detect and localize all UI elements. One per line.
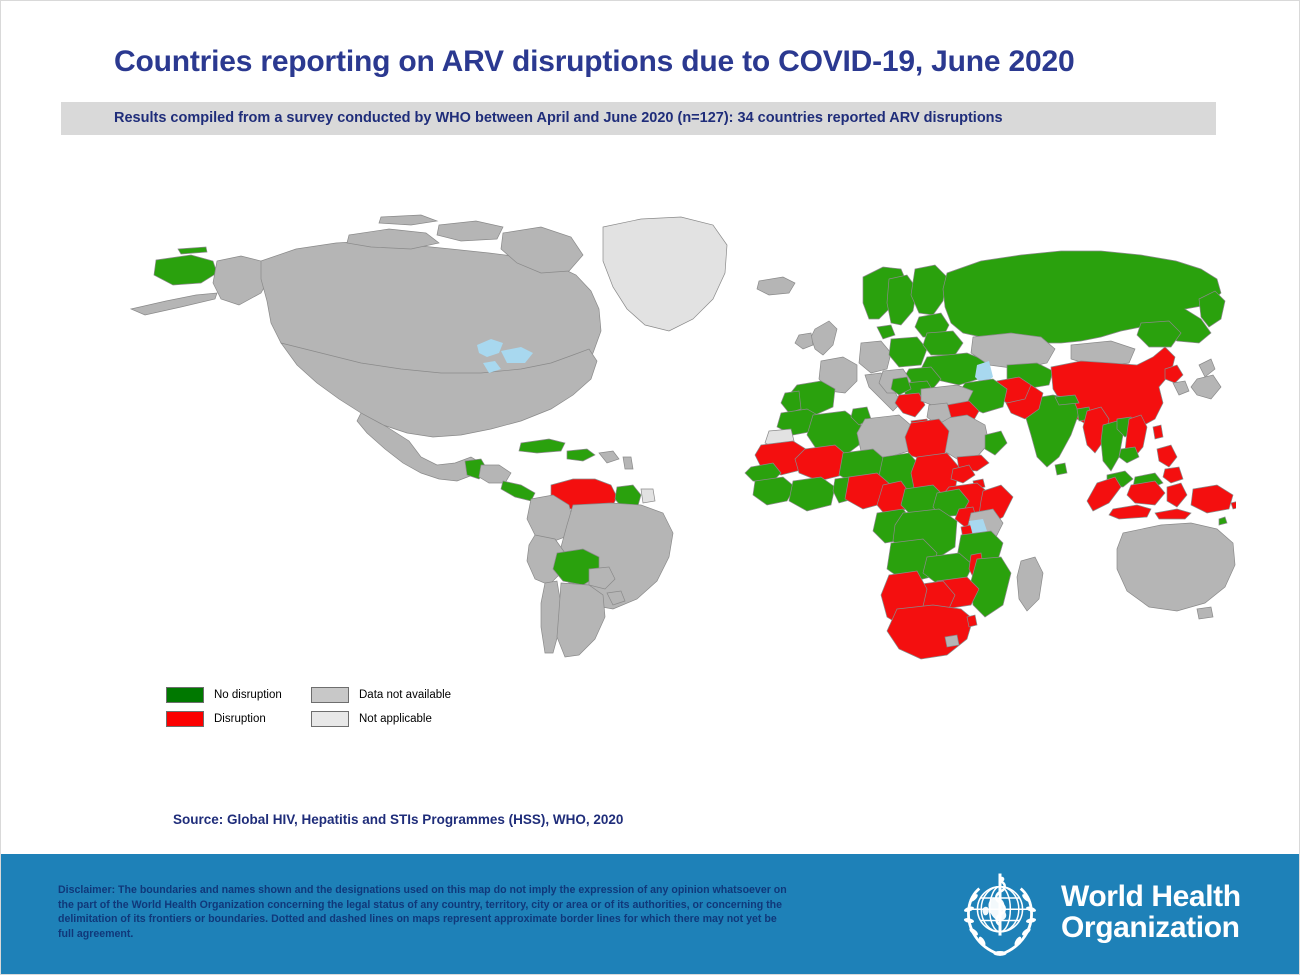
country-eswatini [967,615,977,627]
country-united-kingdom [811,321,837,355]
subtitle-text: Results compiled from a survey conducted… [114,110,1003,126]
legend-swatch-data-not-available [311,687,349,703]
country-nepal [1055,395,1079,405]
country-central-america [479,465,511,483]
country-sweden [887,275,917,325]
country-greenland [603,217,727,331]
country-cote-divoire [789,477,835,511]
who-emblem-icon [951,866,1049,960]
who-wordmark-line2: Organization [1061,913,1241,944]
country-ireland [795,333,813,349]
source-text: Source: Global HIV, Hepatitis and STIs P… [173,812,623,827]
map-legend: No disruption Disruption Data not availa… [166,687,586,735]
country-finland [911,265,947,315]
country-poland [889,337,927,367]
legend-label-no-disruption: No disruption [214,687,282,703]
legend-item-data-not-available: Data not available [311,687,451,703]
country-madagascar [1017,557,1043,611]
country-caribbean-islands [599,451,619,463]
who-wordmark-line1: World Health [1061,882,1241,913]
country-cuba [519,439,565,453]
country-costa-rica-panama [501,481,535,501]
world-choropleth-map: .c-na { fill:#b5b5b5; stroke:#8a8a8a; st… [121,213,1236,678]
world-map-container: .c-na { fill:#b5b5b5; stroke:#8a8a8a; st… [121,213,1236,678]
country-canada-arctic-3 [379,215,437,225]
legend-label-not-applicable: Not applicable [359,711,432,727]
country-oman [985,431,1007,455]
country-canada-arctic-2 [437,221,503,241]
country-argentina [557,583,605,657]
legend-item-disruption: Disruption [166,711,266,727]
country-indonesia-sulawesi [1167,483,1187,507]
country-japan-honshu [1191,375,1221,399]
legend-label-disruption: Disruption [214,711,266,727]
country-papua-new-guinea [1191,485,1233,513]
legend-label-data-not-available: Data not available [359,687,451,703]
country-indonesia-islands [1155,509,1191,519]
country-aleutians [131,293,217,315]
country-lesotho [945,635,959,647]
country-tasmania [1197,607,1213,619]
country-russia [943,251,1221,343]
legend-swatch-disruption [166,711,204,727]
country-sri-lanka [1055,463,1067,475]
country-portugal [781,391,801,413]
country-denmark [877,325,895,339]
country-greece [895,393,925,417]
country-philippines [1157,445,1177,467]
country-alaska-green-2 [178,247,207,254]
country-cambodia [1119,447,1139,463]
country-south-africa [887,605,973,659]
country-hispaniola [567,449,595,461]
country-french-guiana [641,489,655,503]
country-solomon-islands [1231,501,1236,509]
who-wordmark: World Health Organization [1061,882,1241,943]
country-taiwan [1153,425,1163,439]
country-japan [1199,359,1215,377]
legend-swatch-no-disruption [166,687,204,703]
country-south-korea [1173,381,1189,395]
country-indonesia-java [1109,505,1151,519]
country-iceland [757,277,795,295]
slide-root: Countries reporting on ARV disruptions d… [0,0,1300,975]
subtitle-band: Results compiled from a survey conducted… [61,102,1216,135]
country-alaska-green [154,255,217,285]
disclaimer-text: Disclaimer: The boundaries and names sho… [58,883,788,941]
country-chile [541,581,561,653]
country-australia [1117,523,1235,611]
country-fiji [1219,517,1227,525]
who-logo: World Health Organization [951,863,1251,963]
country-germany [859,341,891,373]
page-title: Countries reporting on ARV disruptions d… [114,45,1214,79]
country-belarus [923,331,963,355]
country-philippines-2 [1163,467,1183,483]
legend-swatch-not-applicable [311,711,349,727]
legend-item-no-disruption: No disruption [166,687,282,703]
legend-item-not-applicable: Not applicable [311,711,432,727]
country-lesser-antilles [623,457,633,469]
country-indonesia-sumatra [1087,477,1121,511]
